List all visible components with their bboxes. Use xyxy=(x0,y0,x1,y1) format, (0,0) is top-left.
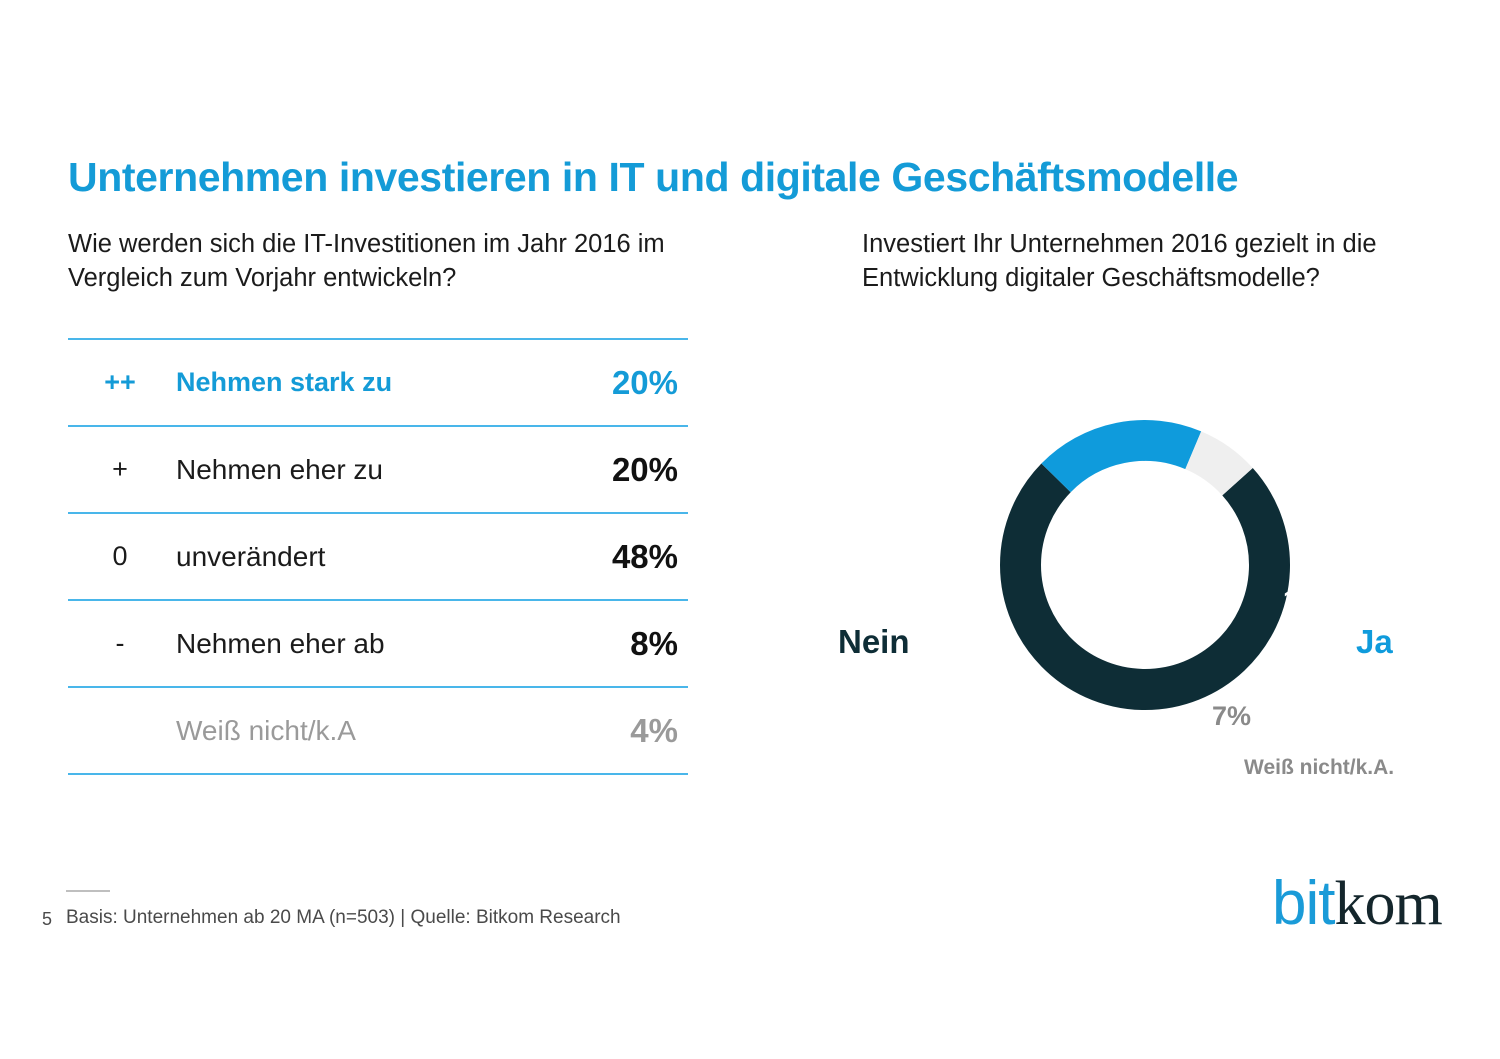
row-label: Nehmen eher zu xyxy=(172,454,528,486)
row-value: 48% xyxy=(528,538,688,576)
row-label: Nehmen stark zu xyxy=(172,367,528,398)
page-title: Unternehmen investieren in IT und digita… xyxy=(68,155,1398,200)
logo-part-kom: kom xyxy=(1334,870,1441,938)
row-value: 4% xyxy=(528,712,688,750)
question-right: Investiert Ihr Unternehmen 2016 gezielt … xyxy=(862,228,1482,296)
bitkom-logo: bitkom xyxy=(1272,873,1442,935)
row-label: Weiß nicht/k.A xyxy=(172,715,528,747)
table-row: 0 unverändert 48% xyxy=(68,514,688,599)
logo-part-bit: bit xyxy=(1272,869,1334,938)
donut-label-nein: Nein xyxy=(838,623,910,661)
donut-label-weiss-nicht: Weiß nicht/k.A. xyxy=(1244,756,1394,780)
donut-chart xyxy=(955,375,1335,755)
donut-segment-nein xyxy=(1021,478,1270,690)
row-symbol: ++ xyxy=(68,367,172,398)
row-symbol: + xyxy=(68,454,172,485)
investment-table: ++ Nehmen stark zu 20% + Nehmen eher zu … xyxy=(68,338,688,775)
donut-segment-weiss-nicht xyxy=(1193,450,1237,481)
row-value: 20% xyxy=(528,364,688,402)
footer-divider xyxy=(66,890,110,892)
row-label: Nehmen eher ab xyxy=(172,628,528,660)
donut-segment-ja xyxy=(1056,441,1193,478)
row-label: unverändert xyxy=(172,541,528,573)
row-symbol: 0 xyxy=(68,541,172,572)
table-row: ++ Nehmen stark zu 20% xyxy=(68,340,688,425)
table-row: + Nehmen eher zu 20% xyxy=(68,427,688,512)
slide-canvas: Unternehmen investieren in IT und digita… xyxy=(0,0,1500,1059)
row-value: 20% xyxy=(528,451,688,489)
row-symbol: - xyxy=(68,628,172,659)
donut-label-ja: Ja xyxy=(1356,623,1393,661)
footer-source-note: Basis: Unternehmen ab 20 MA (n=503) | Qu… xyxy=(66,907,621,929)
table-divider xyxy=(68,773,688,775)
page-number: 5 xyxy=(42,909,52,930)
row-value: 8% xyxy=(528,625,688,663)
table-row: Weiß nicht/k.A 4% xyxy=(68,688,688,773)
question-left: Wie werden sich die IT-Investitionen im … xyxy=(68,228,768,296)
table-row: - Nehmen eher ab 8% xyxy=(68,601,688,686)
donut-svg xyxy=(955,375,1335,755)
